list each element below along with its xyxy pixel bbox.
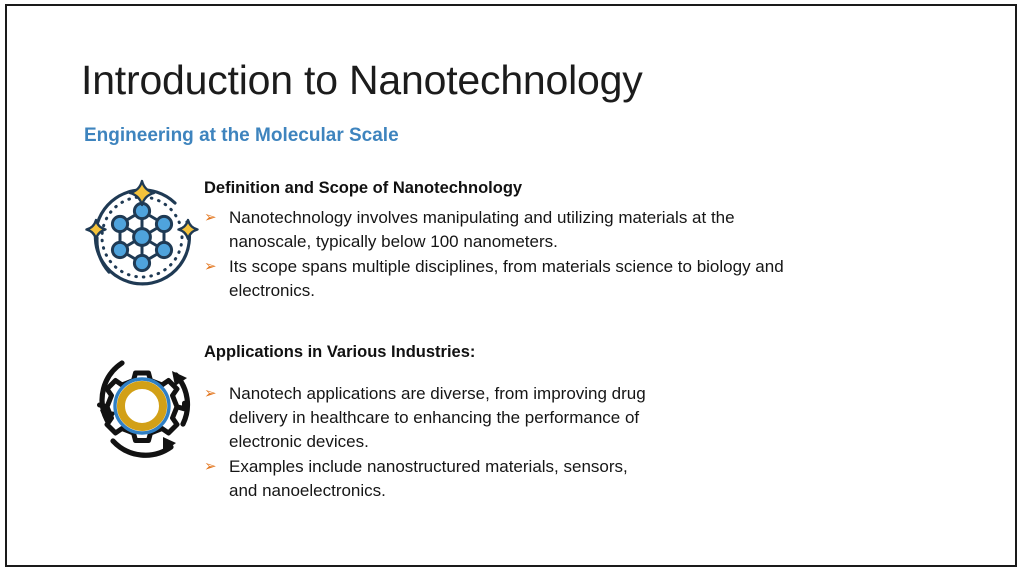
arrow-bullet-icon: ➢ [204, 206, 217, 230]
bullet-text: Nanotech applications are diverse, from … [229, 384, 646, 451]
section-body-definition: Definition and Scope of Nanotechnology ➢… [204, 178, 814, 304]
list-item: ➢ Nanotechnology involves manipulating a… [204, 206, 814, 254]
presentation-slide: Introduction to Nanotechnology Engineeri… [5, 4, 1017, 567]
arrow-bullet-icon: ➢ [204, 255, 217, 279]
arrow-bullet-icon: ➢ [204, 382, 217, 406]
slide-title: Introduction to Nanotechnology [81, 57, 643, 104]
bullet-text: Examples include nanostructured material… [229, 457, 628, 500]
molecule-nanostructure-icon [79, 178, 205, 304]
slide-subtitle: Engineering at the Molecular Scale [84, 125, 399, 148]
section-heading: Applications in Various Industries: [204, 342, 814, 363]
section-heading: Definition and Scope of Nanotechnology [204, 178, 814, 199]
bullet-text: Nanotechnology involves manipulating and… [229, 208, 735, 251]
list-item: ➢ Its scope spans multiple disciplines, … [204, 255, 814, 303]
arrow-bullet-icon: ➢ [204, 455, 217, 479]
list-item: ➢ Examples include nanostructured materi… [204, 455, 649, 503]
gear-cycle-applications-icon [79, 342, 205, 468]
section-body-applications: Applications in Various Industries: ➢ Na… [204, 342, 814, 504]
bullet-list: ➢ Nanotech applications are diverse, fro… [204, 382, 814, 504]
list-item: ➢ Nanotech applications are diverse, fro… [204, 382, 699, 454]
bullet-list: ➢ Nanotechnology involves manipulating a… [204, 206, 814, 304]
bullet-text: Its scope spans multiple disciplines, fr… [229, 257, 784, 300]
